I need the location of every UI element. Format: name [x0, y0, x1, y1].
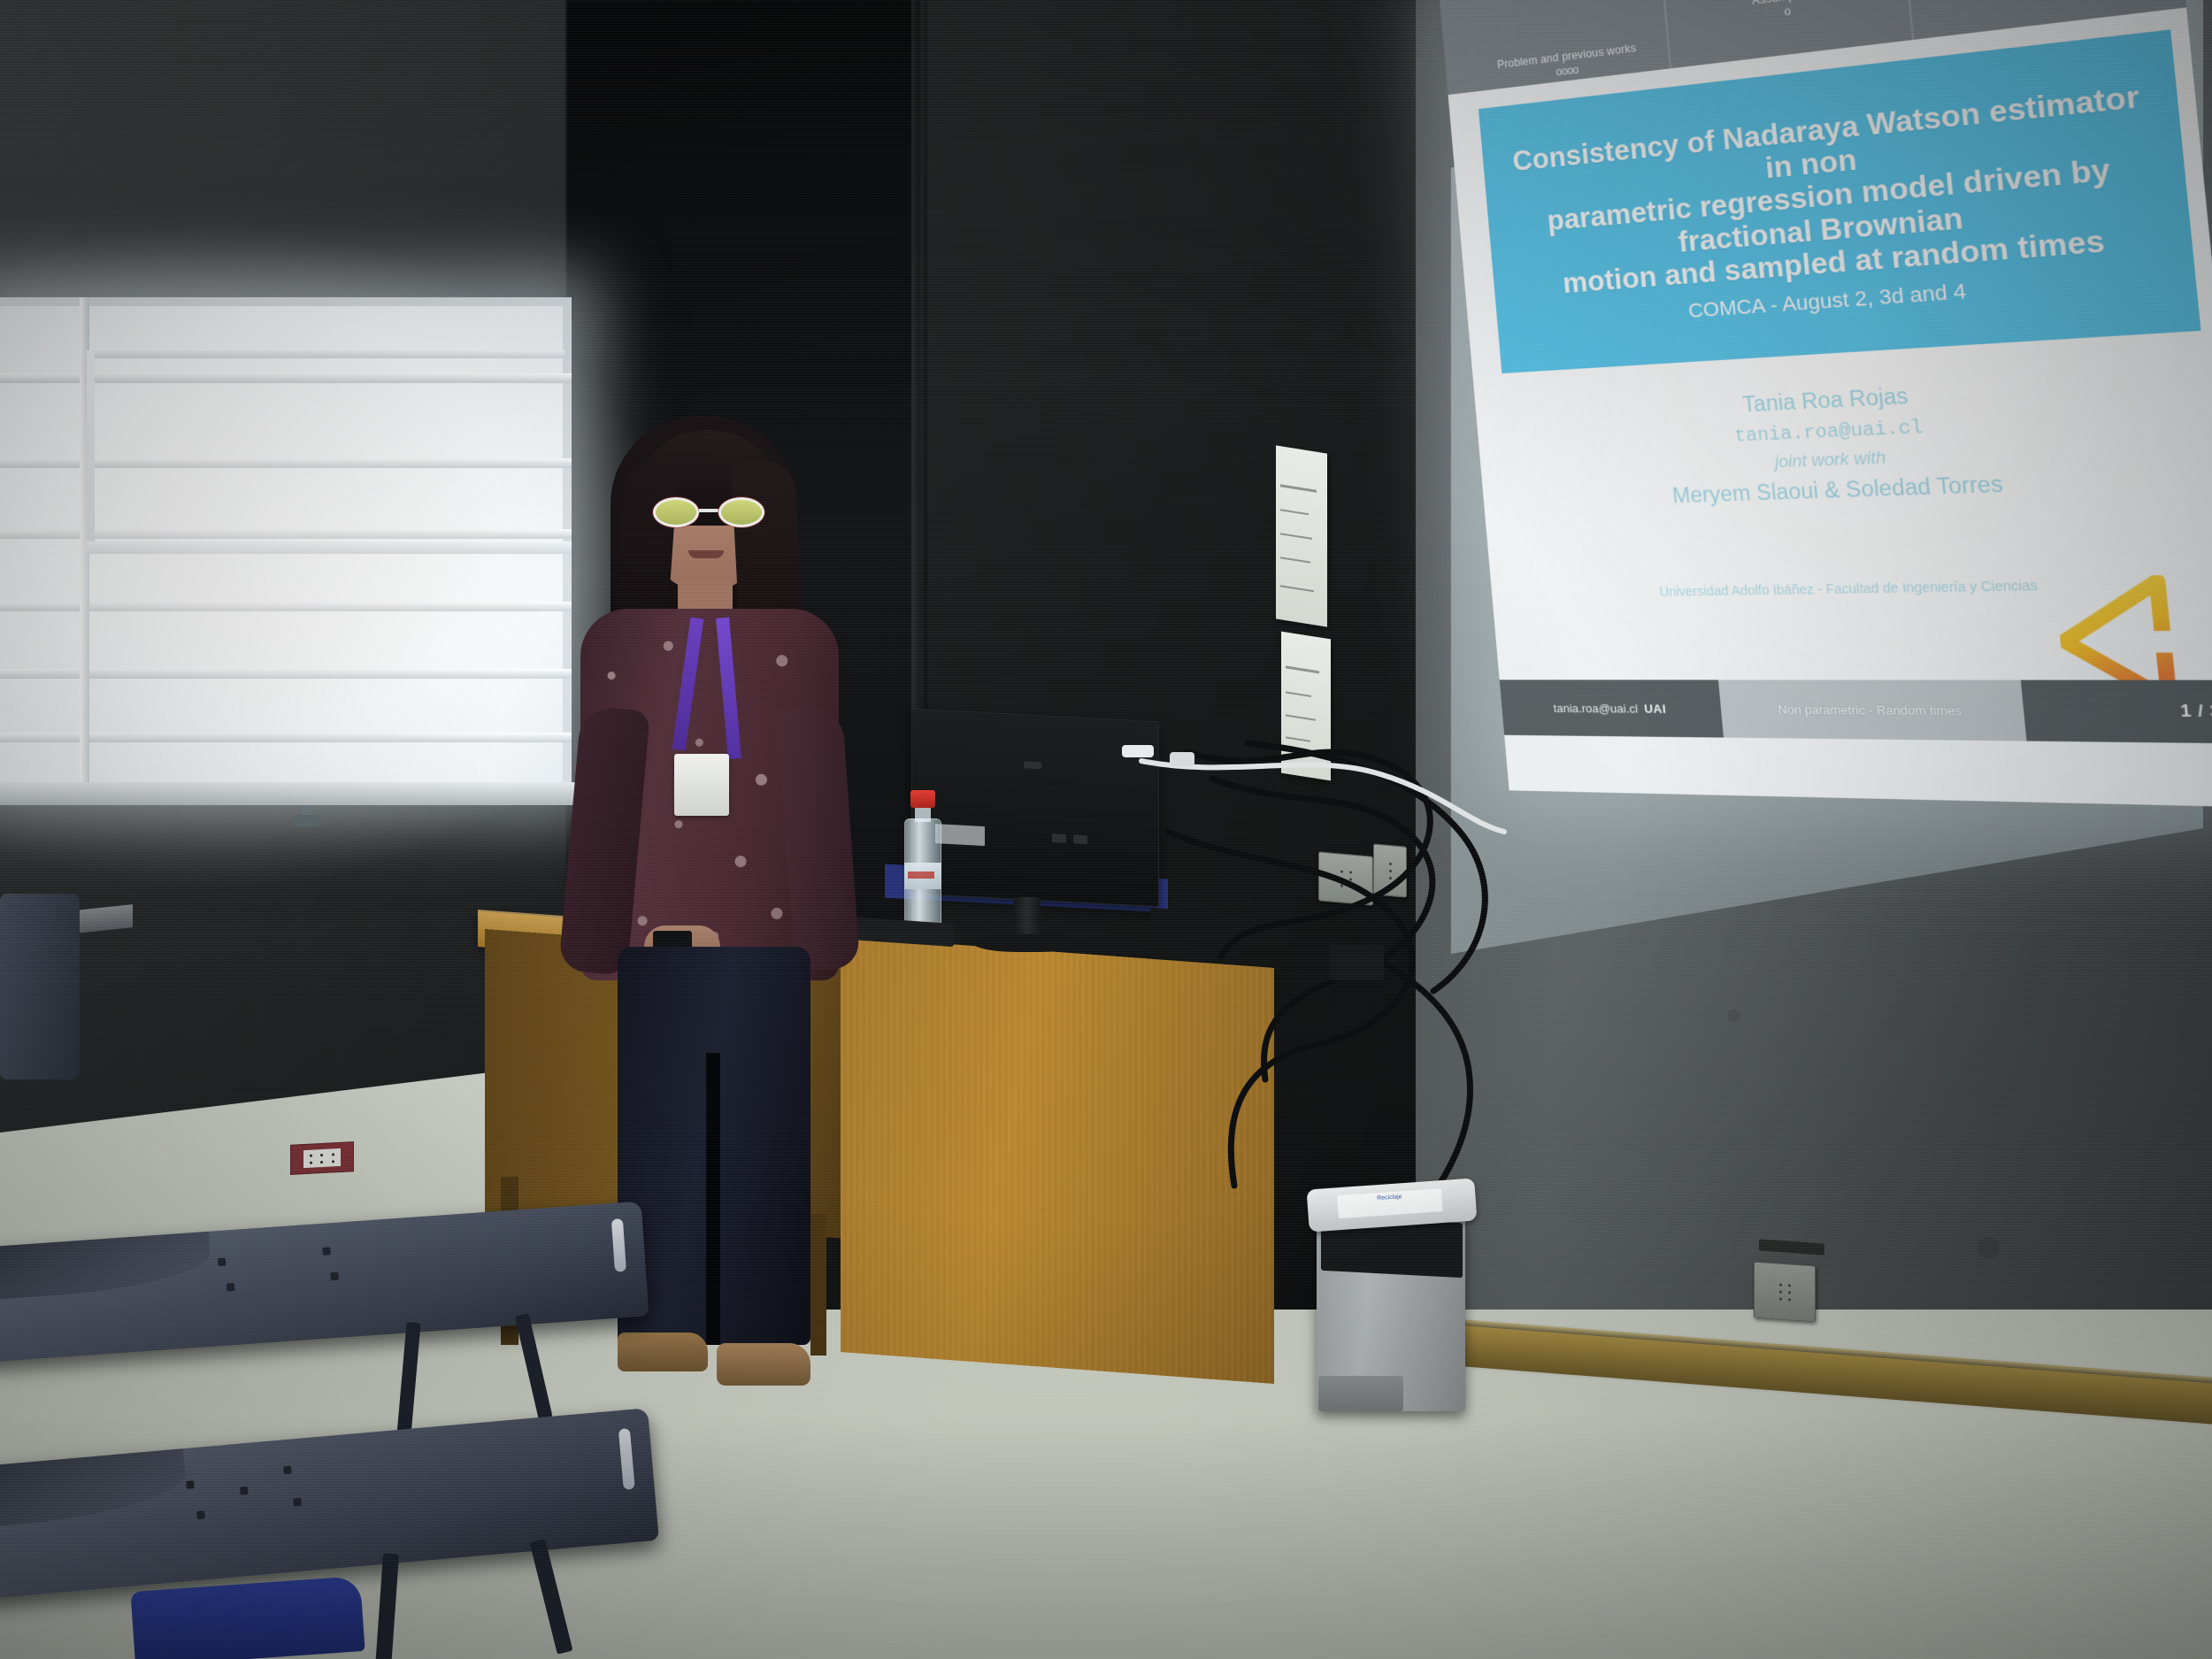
footer-left: tania.roa@uai.cl UAI: [1502, 701, 1722, 716]
monitor-base: [973, 934, 1083, 952]
chair-left[interactable]: [0, 894, 80, 1079]
nav-dots: oooo: [1555, 63, 1578, 78]
glasses-lens-left: [653, 497, 699, 527]
lecture-room-photo: Problem and previous works oooo Assumpti…: [0, 0, 2212, 1659]
footer-short-title: Non parametric - Random times: [1718, 680, 2027, 741]
footer-email: tania.roa@uai.cl: [1553, 701, 1639, 715]
wall-notice: [1276, 445, 1327, 626]
wall-outlet[interactable]: [1754, 1262, 1816, 1323]
bottle-label: [904, 863, 941, 889]
monitor-port: [1052, 833, 1066, 843]
wall-outlet[interactable]: [1318, 851, 1373, 905]
footer-page-number: 1 / 30: [2023, 701, 2212, 722]
window-sash-bottom: [87, 541, 572, 554]
name-badge: [674, 754, 729, 816]
projected-slide: Problem and previous works oooo Assumpti…: [1440, 0, 2212, 808]
slide-body: Consistency of Nadaraya Watson estimator…: [1448, 7, 2212, 743]
bin-pedal[interactable]: [1318, 1376, 1403, 1411]
plate-grid: [303, 1148, 341, 1168]
nav-dots: o: [1784, 4, 1791, 19]
window-sill: [0, 782, 582, 805]
glasses-bridge: [699, 509, 718, 512]
footer-institution: UAI: [1644, 702, 1667, 716]
bin-lid-label: Reciclaje: [1337, 1188, 1443, 1218]
slide-footer: tania.roa@uai.cl UAI Non parametric - Ra…: [1500, 680, 2212, 743]
wall-notice: [1281, 632, 1331, 781]
monitor-spec-label: [935, 824, 985, 846]
projection-screen: Problem and previous works oooo Assumpti…: [1425, 0, 2203, 954]
shoe-right: [717, 1343, 810, 1386]
wall-outlet[interactable]: [1373, 843, 1407, 897]
monitor-vesa: [1024, 761, 1041, 769]
nav-section-assumptions[interactable]: Assumptions o: [1671, 0, 1908, 32]
slide-title-band: Consistency of Nadaraya Watson estimator…: [1479, 29, 2201, 373]
slide-author-block: Tania Roa Rojas tania.roa@uai.cl joint w…: [1475, 362, 2212, 518]
mouth: [688, 550, 724, 558]
wall-emergency-plate: [290, 1141, 354, 1175]
desk-wood-grain: [841, 936, 1274, 1384]
glasses-lens-right: [718, 497, 764, 527]
window-sash-left: [87, 350, 95, 550]
window: [0, 297, 572, 793]
window-sash-top: [87, 350, 565, 358]
shoe-left: [618, 1333, 708, 1371]
glasses: [653, 497, 764, 527]
leg-separation: [706, 1053, 720, 1345]
monitor-port: [1073, 834, 1087, 844]
monitor: [911, 709, 1159, 908]
bottle-cap: [910, 790, 935, 808]
